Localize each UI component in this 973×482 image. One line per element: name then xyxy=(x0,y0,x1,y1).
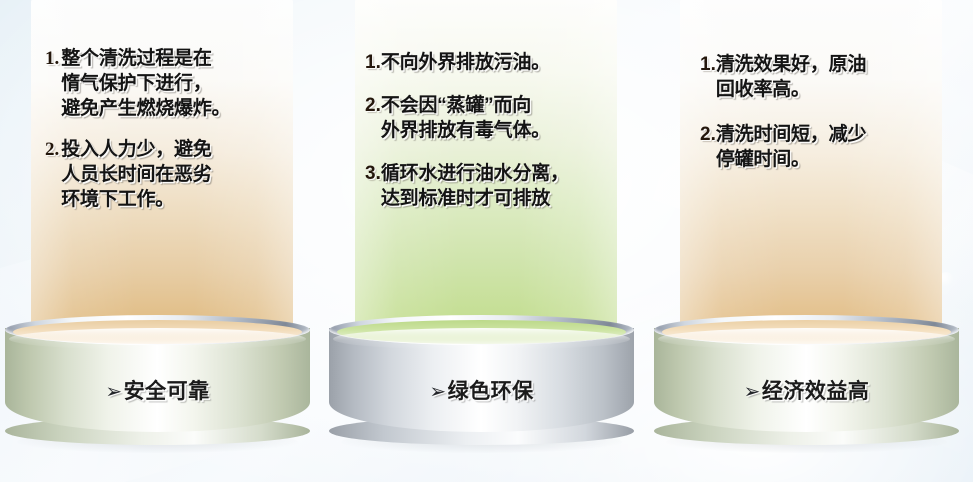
bullet-list-green: 1. 不向外界排放污油。 2. 不会因“蒸罐”而向 外界排放有毒气体。 3. 循… xyxy=(355,50,617,229)
base-rim-highlight xyxy=(333,328,630,350)
bullet-text: 清洗效果好，原油 回收率高。 xyxy=(716,52,866,102)
base-label-text: 安全可靠 xyxy=(124,380,210,403)
base-label-economy: ➢经济效益高 xyxy=(654,375,959,405)
column-base-green: ➢绿色环保 xyxy=(329,315,634,445)
arrow-bullet-icon: ➢ xyxy=(744,381,761,403)
bullet-text: 投入人力少，避免 人员长时间在恶劣 环境下工作。 xyxy=(61,137,211,212)
base-rim-highlight xyxy=(9,328,306,350)
bullet-text: 整个清洗过程是在 惰气保护下进行， 避免产生燃烧爆炸。 xyxy=(61,46,230,121)
bullet-number: 1. xyxy=(700,52,716,77)
bullet-item: 1. 不向外界排放污油。 xyxy=(365,50,617,75)
bullet-text: 清洗时间短，减少 停罐时间。 xyxy=(716,122,866,172)
base-rim-highlight xyxy=(658,328,955,350)
arrow-bullet-icon: ➢ xyxy=(429,381,446,403)
bullet-list-economy: 1. 清洗效果好，原油 回收率高。 2. 清洗时间短，减少 停罐时间。 xyxy=(680,52,942,192)
bullet-item: 2. 清洗时间短，减少 停罐时间。 xyxy=(700,122,942,172)
bullet-item: 3. 循环水进行油水分离， 达到标准时才可排放 xyxy=(365,161,617,211)
bullet-number: 2. xyxy=(365,93,381,118)
slide-canvas: 1. 整个清洗过程是在 惰气保护下进行， 避免产生燃烧爆炸。 2. 投入人力少，… xyxy=(0,0,973,482)
base-label-safety: ➢安全可靠 xyxy=(5,375,310,405)
bullet-list-safety: 1. 整个清洗过程是在 惰气保护下进行， 避免产生燃烧爆炸。 2. 投入人力少，… xyxy=(31,46,293,212)
bullet-item: 2. 不会因“蒸罐”而向 外界排放有毒气体。 xyxy=(365,93,617,143)
bullet-item: 1. 整个清洗过程是在 惰气保护下进行， 避免产生燃烧爆炸。 xyxy=(45,46,293,121)
base-label-text: 经济效益高 xyxy=(762,380,870,403)
bullet-number: 1. xyxy=(365,50,381,75)
column-base-economy: ➢经济效益高 xyxy=(654,315,959,445)
base-label-text: 绿色环保 xyxy=(448,380,534,403)
bullet-text: 循环水进行油水分离， 达到标准时才可排放 xyxy=(381,161,569,211)
bullet-item: 2. 投入人力少，避免 人员长时间在恶劣 环境下工作。 xyxy=(45,137,293,212)
bullet-number: 1. xyxy=(45,46,59,71)
bullet-text: 不会因“蒸罐”而向 外界排放有毒气体。 xyxy=(381,93,550,143)
column-base-safety: ➢安全可靠 xyxy=(5,315,310,445)
bullet-text: 不向外界排放污油。 xyxy=(381,50,550,75)
bullet-item: 1. 清洗效果好，原油 回收率高。 xyxy=(700,52,942,102)
arrow-bullet-icon: ➢ xyxy=(105,381,122,403)
bullet-number: 2. xyxy=(45,137,59,162)
base-label-green: ➢绿色环保 xyxy=(329,375,634,405)
bullet-number: 3. xyxy=(365,161,381,186)
cylinder-columns: 1. 整个清洗过程是在 惰气保护下进行， 避免产生燃烧爆炸。 2. 投入人力少，… xyxy=(0,0,973,482)
bullet-number: 2. xyxy=(700,122,716,147)
